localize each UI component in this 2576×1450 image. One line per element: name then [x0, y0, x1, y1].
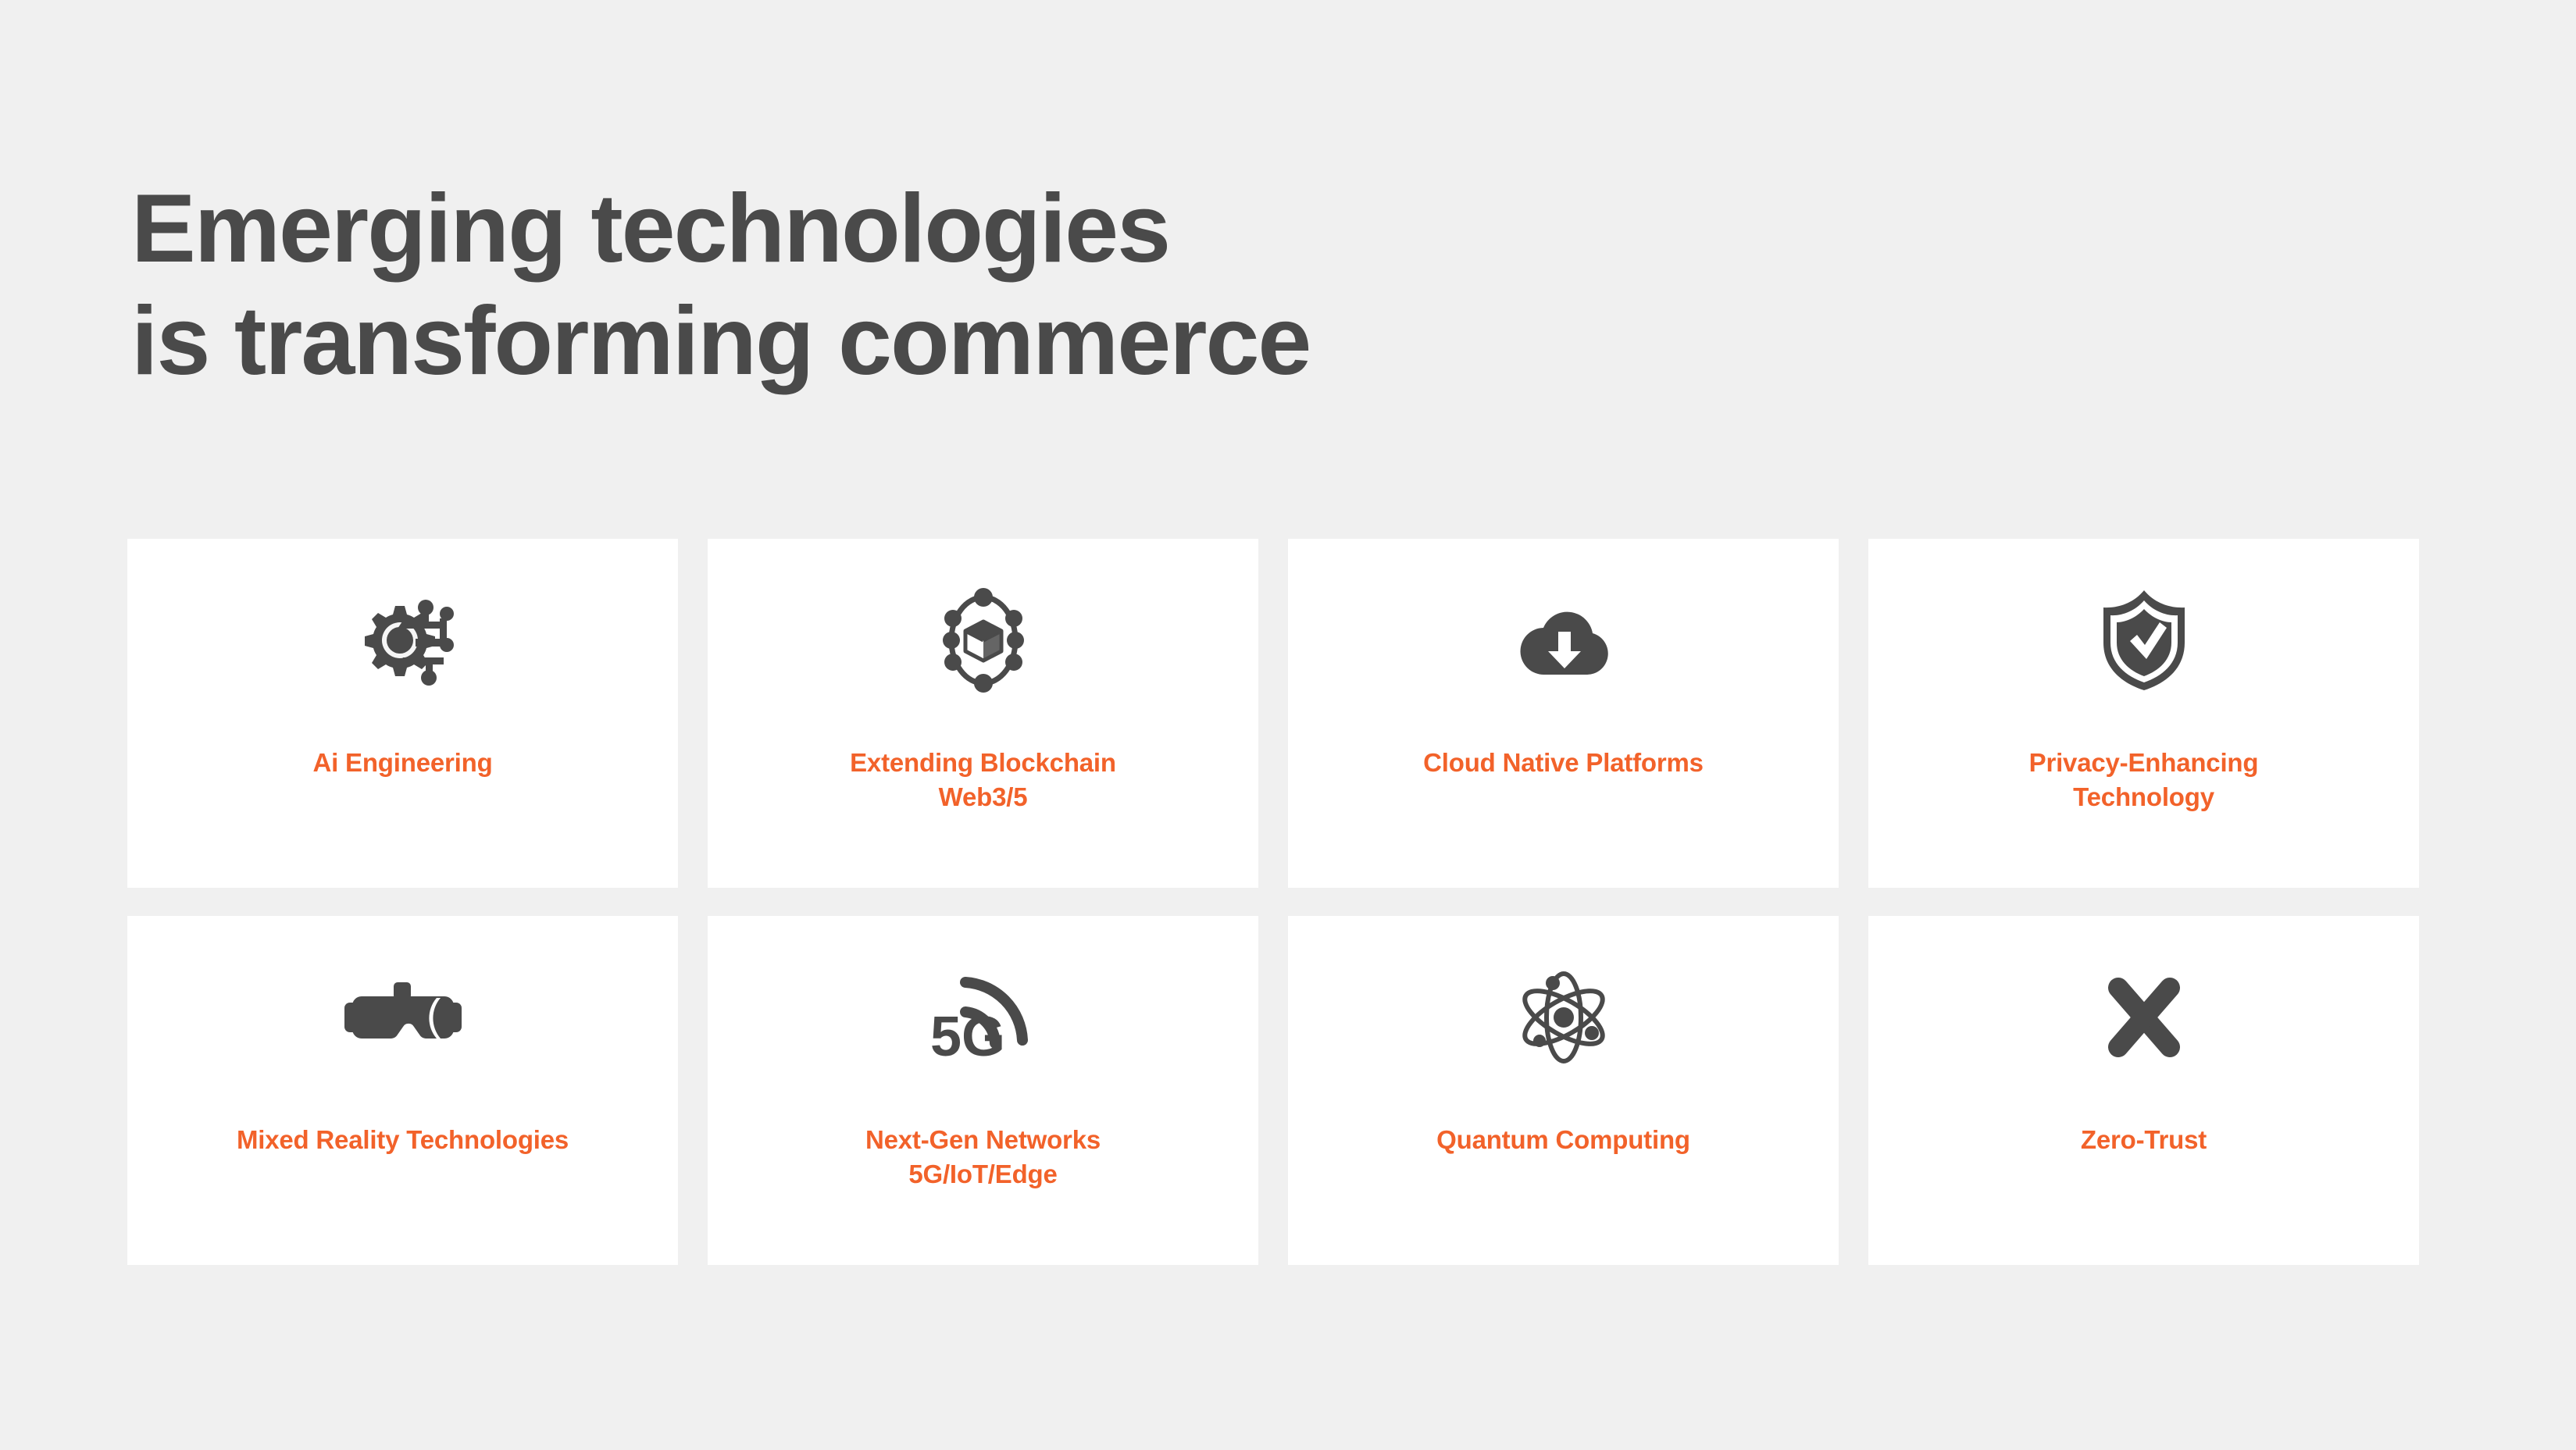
technology-card-grid: Ai Engineering [127, 539, 2443, 1265]
card-ai-engineering[interactable]: Ai Engineering [127, 539, 678, 888]
five-g-signal-icon: 5G [929, 964, 1038, 1070]
card-label: Cloud Native Platforms [1423, 746, 1704, 780]
gear-circuit-icon [351, 587, 455, 693]
card-label: Mixed Reality Technologies [237, 1123, 569, 1157]
slide-footer: Fin Sec Innovation Lab Source: Generativ… [0, 1302, 2576, 1450]
atom-icon [1516, 964, 1611, 1070]
card-label: Ai Engineering [312, 746, 492, 780]
card-label: Next-Gen Networks 5G/IoT/Edge [865, 1123, 1101, 1192]
blockchain-cube-icon [934, 587, 1033, 693]
title-line-2: is transforming commerce [131, 286, 2006, 398]
card-cloud-native-platforms[interactable]: Cloud Native Platforms [1288, 539, 1839, 888]
vr-headset-icon [344, 964, 462, 1070]
card-label: Extending Blockchain Web3/5 [850, 746, 1116, 814]
card-label: Zero-Trust [2081, 1123, 2207, 1157]
card-next-gen-networks[interactable]: 5G Next-Gen Networks 5G/IoT/Edge [708, 916, 1258, 1265]
title-line-1: Emerging technologies [131, 173, 2006, 286]
cloud-download-icon [1513, 587, 1614, 693]
shield-check-icon [2099, 587, 2189, 693]
card-label: Privacy-Enhancing Technology [2029, 746, 2259, 814]
card-privacy-enhancing-technology[interactable]: Privacy-Enhancing Technology [1868, 539, 2419, 888]
page-title: Emerging technologies is transforming co… [131, 173, 2006, 398]
card-extending-blockchain[interactable]: Extending Blockchain Web3/5 [708, 539, 1258, 888]
slide-root: Emerging technologies is transforming co… [0, 0, 2576, 1450]
svg-text:5G: 5G [930, 1006, 1005, 1063]
card-label: Quantum Computing [1436, 1123, 1690, 1157]
card-zero-trust[interactable]: Zero-Trust [1868, 916, 2419, 1265]
card-row-2: Mixed Reality Technologies 5G Next-Gen N… [127, 916, 2443, 1265]
card-quantum-computing[interactable]: Quantum Computing [1288, 916, 1839, 1265]
x-mark-icon [2105, 964, 2183, 1070]
card-row-1: Ai Engineering [127, 539, 2443, 888]
card-mixed-reality-technologies[interactable]: Mixed Reality Technologies [127, 916, 678, 1265]
